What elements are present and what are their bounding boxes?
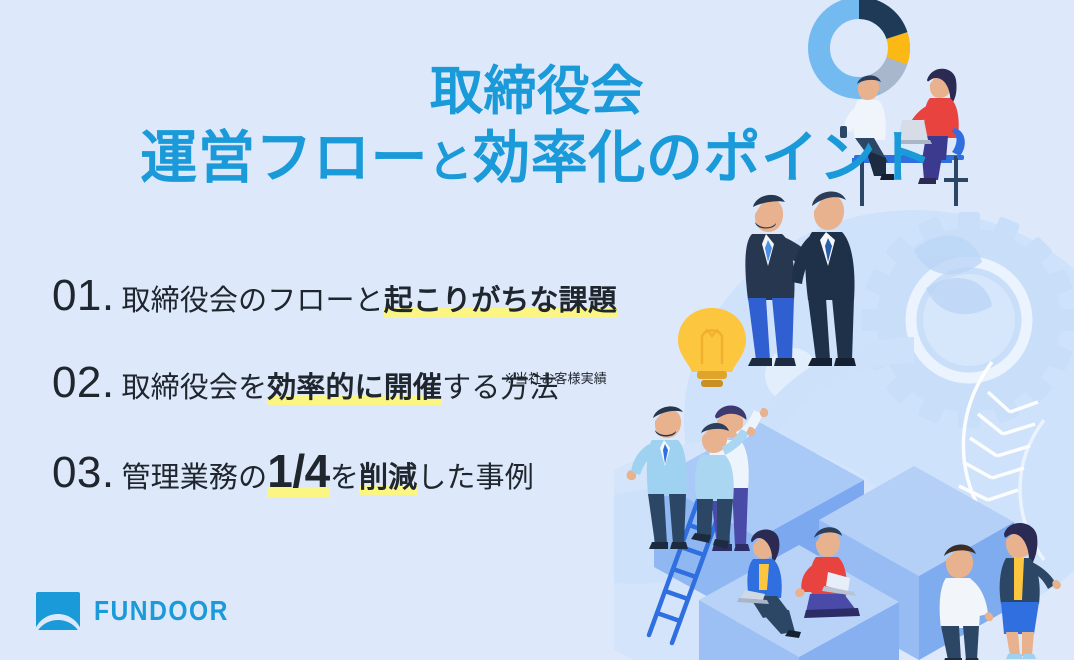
logo-text: FUNDOOR bbox=[94, 597, 229, 625]
list-item-text: 取締役会を効率的に開催する方法 bbox=[122, 374, 559, 403]
cube-right bbox=[819, 466, 1014, 660]
title-block: 取締役会 運営フローと効率化のポイント bbox=[0, 62, 1074, 191]
text-segment-highlight: 削減 bbox=[359, 462, 417, 495]
logo[interactable]: FUNDOOR bbox=[36, 592, 247, 630]
list-item: 01. 取締役会のフローと起こりがちな課題 bbox=[52, 274, 742, 318]
list-item-text: 管理業務の1/4を削減した事例 bbox=[122, 448, 534, 494]
cube-front bbox=[699, 545, 899, 660]
leaf-decoration-soft bbox=[914, 236, 992, 315]
title-line-1: 取締役会 bbox=[0, 62, 1074, 121]
gear-large-icon bbox=[816, 167, 1074, 472]
list-item-text: 取締役会のフローと起こりがちな課題 bbox=[122, 287, 617, 316]
person-businessman-b bbox=[792, 191, 856, 366]
text-segment: 取締役会を bbox=[122, 372, 268, 404]
title-line-2-part-c: 効率化のポイント bbox=[473, 126, 934, 190]
list-item: 02. 取締役会を効率的に開催する方法 bbox=[52, 361, 742, 405]
gear-glyph-icon bbox=[733, 552, 755, 574]
slide-root: 取締役会 運営フローと効率化のポイント 01. 取締役会のフローと起こりがちな課… bbox=[0, 0, 1074, 660]
person-sitting-laptop bbox=[737, 530, 801, 639]
text-segment-highlight: 効率的に開催 bbox=[267, 372, 442, 405]
footnote: ※当社お客様実績 bbox=[504, 368, 607, 387]
text-segment: 取締役会のフローと bbox=[122, 285, 384, 317]
text-segment-highlight: 起こりがちな課題 bbox=[384, 285, 617, 318]
title-line-2-part-a: 運営フロー bbox=[140, 126, 428, 190]
title-line-2-part-b: と bbox=[428, 138, 473, 187]
list-item-number: 01. bbox=[52, 274, 115, 318]
list-item: 03. 管理業務の1/4を削減した事例 bbox=[52, 448, 742, 495]
person-businessman-a bbox=[745, 195, 822, 366]
fundoor-logo-mark-icon bbox=[36, 592, 80, 630]
text-segment: した事例 bbox=[417, 462, 534, 494]
text-segment-metric: 1/4 bbox=[267, 445, 330, 497]
agenda-list: 01. 取締役会のフローと起こりがちな課題 02. 取締役会を効率的に開催する方… bbox=[52, 274, 742, 538]
title-line-2: 運営フローと効率化のポイント bbox=[0, 127, 1074, 191]
person-standing-woman bbox=[1000, 523, 1061, 659]
person-crosslegged-laptop bbox=[795, 527, 860, 618]
list-item-number: 02. bbox=[52, 361, 115, 405]
text-segment: を bbox=[330, 462, 359, 494]
leaf-decoration bbox=[959, 362, 1044, 560]
list-item-number: 03. bbox=[52, 451, 115, 495]
person-standing-man bbox=[940, 544, 994, 660]
text-segment: 管理業務の bbox=[122, 462, 268, 494]
